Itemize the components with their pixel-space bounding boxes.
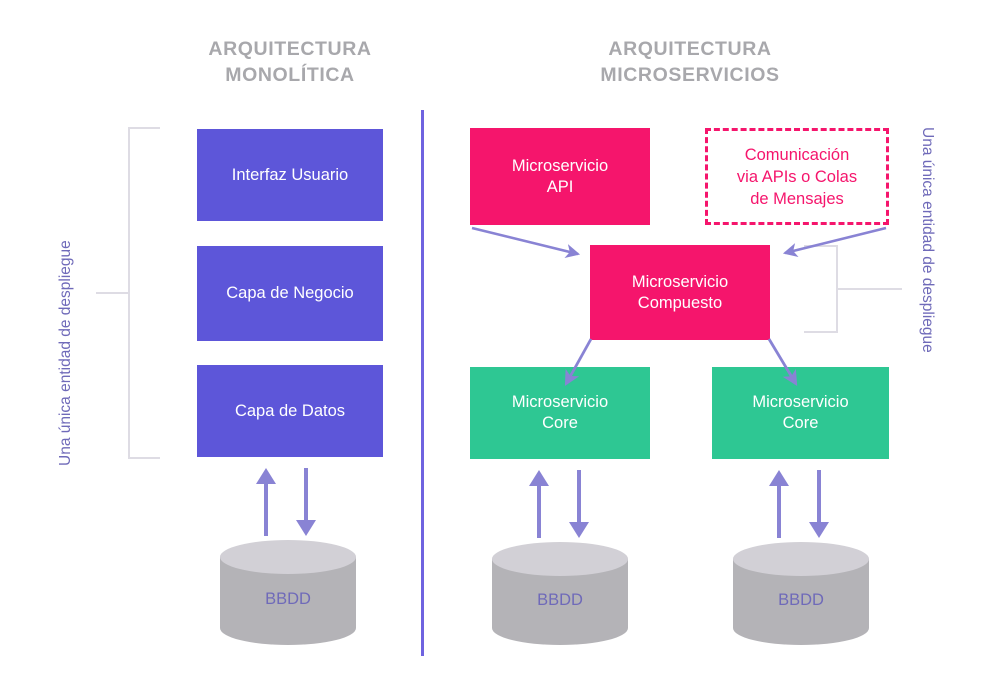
communication-note-box[interactable]: Comunicación via APIs o Colas de Mensaje… xyxy=(705,128,889,225)
arrow-shaft xyxy=(304,468,308,524)
arrow-shaft xyxy=(817,470,821,526)
arrow-shaft xyxy=(264,480,268,536)
arrow-up-icon-core2-db xyxy=(769,470,789,538)
database-cylinder-icon-core2[interactable]: BBDD xyxy=(733,542,869,645)
vertical-divider-icon xyxy=(421,110,424,656)
monolithic-title-line2: MONOLÍTICA xyxy=(176,62,404,88)
communication-note-label: Comunicación via APIs o Colas de Mensaje… xyxy=(737,144,857,210)
communication-note-line2: via APIs o Colas xyxy=(737,168,857,186)
arrow-shaft xyxy=(537,482,541,538)
bracket-right-icon xyxy=(780,245,902,333)
arrow-down-icon-core1-db xyxy=(569,470,589,538)
monolith-layer-interfaz-usuario[interactable]: Interfaz Usuario xyxy=(197,129,383,221)
monolithic-title-line1: ARQUITECTURA xyxy=(176,36,404,62)
left-deployment-label: Una única entidad de despliegue xyxy=(57,240,75,466)
db-top-ellipse xyxy=(492,542,628,576)
communication-note-line1: Comunicación xyxy=(745,146,850,164)
monolith-layer-1-label: Capa de Negocio xyxy=(226,283,354,304)
db-top-ellipse xyxy=(733,542,869,576)
monolith-layer-capa-de-datos[interactable]: Capa de Datos xyxy=(197,365,383,457)
microservice-api-line1: Microservicio xyxy=(512,157,608,175)
microservice-core-1-label: Microservicio Core xyxy=(512,392,608,434)
microservices-title-line2: MICROSERVICIOS xyxy=(565,62,815,88)
microservice-core-1-line2: Core xyxy=(542,414,578,432)
communication-note-line3: de Mensajes xyxy=(750,190,844,208)
arrow-shaft xyxy=(777,482,781,538)
arrow-down-icon-core2-db xyxy=(809,470,829,538)
microservice-core-2-line1: Microservicio xyxy=(752,393,848,411)
monolith-layer-0-label: Interfaz Usuario xyxy=(232,165,348,186)
microservice-core-box-1[interactable]: Microservicio Core xyxy=(470,367,650,459)
arrow-up-icon-monolith-db xyxy=(256,468,276,536)
bracket-left-icon xyxy=(96,127,164,459)
db-top-ellipse xyxy=(220,540,356,574)
microservice-api-line2: API xyxy=(547,178,574,196)
microservice-compuesto-box[interactable]: Microservicio Compuesto xyxy=(590,245,770,340)
microservice-compuesto-line2: Compuesto xyxy=(638,294,722,312)
database-cylinder-icon-core1[interactable]: BBDD xyxy=(492,542,628,645)
db-label-monolith: BBDD xyxy=(220,590,356,609)
microservice-core-1-line1: Microservicio xyxy=(512,393,608,411)
arrow-shaft xyxy=(577,470,581,526)
monolithic-column-title: ARQUITECTURA MONOLÍTICA xyxy=(176,36,404,88)
arrow-up-icon-core1-db xyxy=(529,470,549,538)
monolith-layer-capa-de-negocio[interactable]: Capa de Negocio xyxy=(197,246,383,341)
arrow-down-icon-monolith-db xyxy=(296,468,316,536)
microservice-core-2-line2: Core xyxy=(783,414,819,432)
microservice-core-box-2[interactable]: Microservicio Core xyxy=(712,367,889,459)
microservice-compuesto-line1: Microservicio xyxy=(632,273,728,291)
microservice-api-box[interactable]: Microservicio API xyxy=(470,128,650,225)
microservice-api-label: Microservicio API xyxy=(512,156,608,198)
right-deployment-label: Una única entidad de despliegue xyxy=(918,127,936,353)
arrow-diagonal-icon-api-to-composite xyxy=(472,228,578,254)
db-label-core2: BBDD xyxy=(733,591,869,610)
diagram-canvas: ARQUITECTURA MONOLÍTICA ARQUITECTURA MIC… xyxy=(0,0,1000,693)
database-cylinder-icon-monolith[interactable]: BBDD xyxy=(220,540,356,645)
microservice-core-2-label: Microservicio Core xyxy=(752,392,848,434)
microservices-column-title: ARQUITECTURA MICROSERVICIOS xyxy=(565,36,815,88)
db-label-core1: BBDD xyxy=(492,591,628,610)
microservices-title-line1: ARQUITECTURA xyxy=(565,36,815,62)
monolith-layer-2-label: Capa de Datos xyxy=(235,401,345,422)
microservice-compuesto-label: Microservicio Compuesto xyxy=(632,272,728,314)
